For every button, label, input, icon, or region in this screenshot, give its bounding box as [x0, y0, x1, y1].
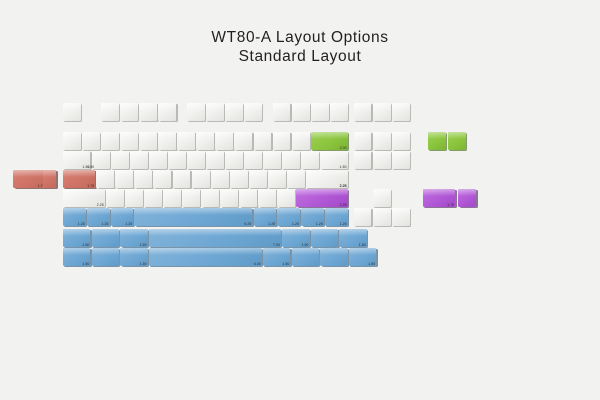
key-cap-surface	[92, 248, 119, 266]
key-0[interactable]	[254, 132, 272, 150]
key-semicolon[interactable]	[268, 170, 286, 188]
key-cap-surface	[311, 103, 329, 121]
key-shift-right[interactable]: 2.252.25	[296, 189, 347, 207]
key-size-label: 1.50	[340, 165, 347, 169]
key-f8[interactable]	[244, 103, 262, 121]
key-scroll-lock[interactable]	[373, 103, 391, 121]
key-cap-surface	[149, 248, 262, 266]
key-win-right-150-b[interactable]	[320, 248, 347, 266]
key-j[interactable]	[211, 170, 229, 188]
key-cap-surface	[287, 170, 305, 188]
key-cap-surface	[277, 189, 295, 207]
key-space-600[interactable]: 6.00	[149, 248, 262, 266]
key-cap-surface	[82, 132, 100, 150]
key-cap-surface	[354, 132, 372, 150]
key-size-label: 1.25	[316, 222, 323, 226]
key-cap-surface	[206, 151, 224, 169]
key-cap-surface	[392, 151, 410, 169]
key-fn-125[interactable]: 1.25	[301, 208, 324, 226]
key-win-right-150[interactable]	[311, 229, 338, 247]
key-cap-surface	[244, 151, 262, 169]
key-cap-surface	[354, 151, 372, 169]
key-space-700[interactable]: 7.00	[149, 229, 281, 247]
key-f3[interactable]	[139, 103, 157, 121]
key-cap-surface	[263, 151, 281, 169]
key-arrow-down[interactable]	[373, 208, 391, 226]
key-insert[interactable]	[354, 132, 372, 150]
key-cap-surface	[373, 103, 391, 121]
key-2[interactable]	[101, 132, 119, 150]
key-cap-surface	[163, 189, 181, 207]
key-size-label: 1.25	[340, 222, 347, 226]
key-cap-surface	[354, 103, 372, 121]
key-size-label: 7.00	[273, 243, 280, 247]
key-backspace[interactable]: 2.00	[311, 132, 348, 150]
key-cap-surface	[428, 132, 446, 150]
key-size-label: 2.25	[97, 203, 104, 207]
key-win-left-150[interactable]	[92, 229, 119, 247]
key-cap-surface	[149, 151, 167, 169]
key-cap-surface	[149, 229, 281, 247]
key-cap-surface	[182, 189, 200, 207]
key-win-left-125[interactable]: 1.25	[87, 208, 110, 226]
key-cap-surface	[273, 132, 291, 150]
key-cap-surface	[239, 189, 257, 207]
key-fn-right-150-b[interactable]	[292, 248, 319, 266]
key-4[interactable]	[139, 132, 157, 150]
key-delete[interactable]	[354, 151, 372, 169]
key-cap-surface	[244, 103, 262, 121]
key-cap-surface	[373, 208, 391, 226]
key-cap-surface	[373, 151, 391, 169]
key-cap-surface	[320, 248, 347, 266]
key-cap-surface	[373, 189, 391, 207]
key-cap-surface	[101, 132, 119, 150]
key-i[interactable]	[225, 151, 243, 169]
key-cap-surface	[249, 170, 267, 188]
key-alt-left-150-b[interactable]: 1.50	[120, 248, 147, 266]
key-f9[interactable]	[273, 103, 291, 121]
key-cap-surface	[92, 151, 110, 169]
key-cap-surface	[125, 189, 143, 207]
key-cap-surface	[130, 151, 148, 169]
key-cap-surface	[101, 103, 119, 121]
key-size-label: 1.50	[282, 262, 289, 266]
key-cap-surface	[63, 132, 81, 150]
key-f10[interactable]	[292, 103, 310, 121]
key-size-label: 1.25	[78, 222, 85, 226]
key-size-label: 1.25	[268, 222, 275, 226]
key-size-label: 1.75	[447, 203, 454, 207]
key-x[interactable]	[125, 189, 143, 207]
key-cap-surface	[282, 151, 300, 169]
key-cap-surface	[153, 170, 171, 188]
key-cap-surface	[196, 132, 214, 150]
key-cap-surface	[192, 170, 210, 188]
key-cap-surface	[292, 132, 310, 150]
key-g[interactable]	[173, 170, 191, 188]
key-bracket-right[interactable]	[301, 151, 319, 169]
key-cap-surface	[115, 170, 133, 188]
key-cap-surface	[254, 132, 272, 150]
key-f6[interactable]	[206, 103, 224, 121]
key-cap-surface	[206, 103, 224, 121]
key-page-up[interactable]	[392, 132, 410, 150]
key-6[interactable]	[177, 132, 195, 150]
key-a[interactable]	[96, 170, 114, 188]
key-cap-surface	[158, 132, 176, 150]
key-print-screen[interactable]	[354, 103, 372, 121]
key-m[interactable]	[220, 189, 238, 207]
key-bracket-left[interactable]	[282, 151, 300, 169]
key-cap-surface	[215, 132, 233, 150]
key-comma[interactable]	[239, 189, 257, 207]
key-r[interactable]	[149, 151, 167, 169]
key-cap-surface	[168, 151, 186, 169]
key-size-label: 1.50	[359, 243, 366, 247]
key-equal[interactable]	[292, 132, 310, 150]
key-size-label: 2.25	[340, 203, 347, 207]
key-cap-surface	[134, 208, 252, 226]
key-f4[interactable]	[158, 103, 176, 121]
key-cap-surface	[120, 132, 138, 150]
key-cap-surface	[268, 170, 286, 188]
key-f12[interactable]	[330, 103, 348, 121]
key-f1[interactable]	[101, 103, 119, 121]
key-cap-surface	[173, 170, 191, 188]
key-cap-surface	[225, 151, 243, 169]
key-cap-surface	[354, 208, 372, 226]
key-f2[interactable]	[120, 103, 138, 121]
key-cap-surface	[292, 248, 319, 266]
key-esc[interactable]	[63, 103, 81, 121]
key-size-label: 1.50	[82, 262, 89, 266]
key-cap-surface	[211, 170, 229, 188]
key-f5[interactable]	[187, 103, 205, 121]
key-page-down[interactable]	[392, 151, 410, 169]
keyboard-layout-diagram: 2.001.501.501.751.502.252.252.252.251.25…	[0, 0, 600, 400]
key-cap-surface	[448, 132, 466, 150]
key-cap-surface	[139, 103, 157, 121]
key-shift-left[interactable]: 2.25	[63, 189, 105, 207]
key-cap-surface	[96, 170, 114, 188]
key-7[interactable]	[196, 132, 214, 150]
key-alt-right-150[interactable]: 1.50	[282, 229, 309, 247]
key-k[interactable]	[230, 170, 248, 188]
key-cap-surface	[134, 170, 152, 188]
key-cap-surface	[234, 132, 252, 150]
key-cap-surface	[43, 170, 56, 188]
key-3[interactable]	[120, 132, 138, 150]
key-size-label: 6.00	[254, 262, 261, 266]
key-cap-surface	[201, 189, 219, 207]
key-space-625[interactable]: 6.25	[134, 208, 252, 226]
key-l[interactable]	[249, 170, 267, 188]
key-size-label: 1.25	[292, 222, 299, 226]
key-d[interactable]	[134, 170, 152, 188]
key-b[interactable]	[182, 189, 200, 207]
key-size-label: 1.25	[125, 222, 132, 226]
key-5[interactable]	[158, 132, 176, 150]
key-ctrl-left-150-b[interactable]: 1.50	[63, 248, 90, 266]
alt-key-backspace-split-left[interactable]	[428, 132, 446, 150]
key-z[interactable]	[106, 189, 124, 207]
key-cap-surface	[330, 103, 348, 121]
key-grave[interactable]	[63, 132, 81, 150]
key-e[interactable]	[130, 151, 148, 169]
key-end[interactable]	[373, 151, 391, 169]
key-cap-surface	[158, 103, 176, 121]
key-cap-surface	[230, 170, 248, 188]
key-t[interactable]	[168, 151, 186, 169]
key-backslash[interactable]: 1.50	[320, 151, 347, 169]
key-size-label: 1.50	[140, 243, 147, 247]
key-cap-surface	[373, 132, 391, 150]
key-win-right-125[interactable]: 1.25	[277, 208, 300, 226]
key-size-label: 2.00	[340, 146, 347, 150]
key-size-label-top: 1.50	[87, 165, 94, 169]
key-size-label: 1.50	[140, 262, 147, 266]
key-p[interactable]	[263, 151, 281, 169]
key-cap-surface	[63, 103, 81, 121]
key-f11[interactable]	[311, 103, 329, 121]
key-alt-right-150-b[interactable]: 1.50	[263, 248, 290, 266]
key-cap-surface	[392, 132, 410, 150]
key-f7[interactable]	[225, 103, 243, 121]
key-size-label: 1.25	[102, 222, 109, 226]
key-n[interactable]	[201, 189, 219, 207]
key-u[interactable]	[206, 151, 224, 169]
key-1[interactable]	[82, 132, 100, 150]
key-cap-surface	[301, 151, 319, 169]
alt-key-shift-right-split[interactable]	[458, 189, 476, 207]
key-cap-surface	[311, 229, 338, 247]
alt-key-shift-right-175[interactable]: 1.75	[423, 189, 455, 207]
key-alt-left-125[interactable]: 1.25	[111, 208, 134, 226]
key-ctrl-left-125[interactable]: 1.25	[63, 208, 86, 226]
key-size-label: 1.50	[368, 262, 375, 266]
key-alt-right-125[interactable]: 1.25	[254, 208, 277, 226]
key-cap-surface	[220, 189, 238, 207]
key-o[interactable]	[244, 151, 262, 169]
key-ctrl-right-125[interactable]: 1.25	[325, 208, 348, 226]
key-cap-surface	[392, 208, 410, 226]
key-cap-surface	[106, 189, 124, 207]
key-cap-surface	[144, 189, 162, 207]
key-size-label: 6.25	[244, 222, 251, 226]
key-alt-left-150[interactable]: 1.50	[120, 229, 147, 247]
key-s[interactable]	[115, 170, 133, 188]
key-period[interactable]	[258, 189, 276, 207]
key-ctrl-right-150[interactable]: 1.50	[339, 229, 366, 247]
key-home[interactable]	[373, 132, 391, 150]
key-w[interactable]	[111, 151, 129, 169]
alt-key-backspace-split-right[interactable]	[448, 132, 466, 150]
key-cap-surface	[111, 151, 129, 169]
key-v[interactable]	[163, 189, 181, 207]
alt-key-caps-lock-175[interactable]: 1.75	[13, 170, 45, 188]
key-ctrl-right-150-b[interactable]: 1.50	[349, 248, 376, 266]
key-arrow-left[interactable]	[354, 208, 372, 226]
key-arrow-up[interactable]	[373, 189, 391, 207]
key-arrow-right[interactable]	[392, 208, 410, 226]
key-size-label-top: 2.25	[340, 184, 347, 188]
key-cap-surface	[187, 151, 205, 169]
key-cap-surface	[139, 132, 157, 150]
key-size-label: 1.75	[87, 184, 94, 188]
key-y[interactable]	[187, 151, 205, 169]
key-f[interactable]	[153, 170, 171, 188]
key-cap-surface	[258, 189, 276, 207]
key-cap-surface	[187, 103, 205, 121]
alt-key-caps-lock-split[interactable]	[43, 170, 56, 188]
key-9[interactable]	[234, 132, 252, 150]
key-cap-surface	[392, 103, 410, 121]
key-cap-surface	[92, 229, 119, 247]
key-cap-surface	[225, 103, 243, 121]
key-cap-surface	[292, 103, 310, 121]
key-size-label: 1.50	[82, 243, 89, 247]
key-cap-surface	[177, 132, 195, 150]
key-caps-lock[interactable]: 1.751.50	[63, 170, 95, 188]
key-slash[interactable]	[277, 189, 295, 207]
key-quote[interactable]	[287, 170, 305, 188]
key-c[interactable]	[144, 189, 162, 207]
key-q[interactable]	[92, 151, 110, 169]
key-8[interactable]	[215, 132, 233, 150]
key-cap-surface	[273, 103, 291, 121]
key-minus[interactable]	[273, 132, 291, 150]
key-win-left-150-b[interactable]	[92, 248, 119, 266]
key-cap-surface	[120, 103, 138, 121]
key-ctrl-left-150[interactable]: 1.50	[63, 229, 90, 247]
key-cap-surface	[458, 189, 476, 207]
key-size-label: 1.50	[302, 243, 309, 247]
key-pause[interactable]	[392, 103, 410, 121]
key-h[interactable]	[192, 170, 210, 188]
